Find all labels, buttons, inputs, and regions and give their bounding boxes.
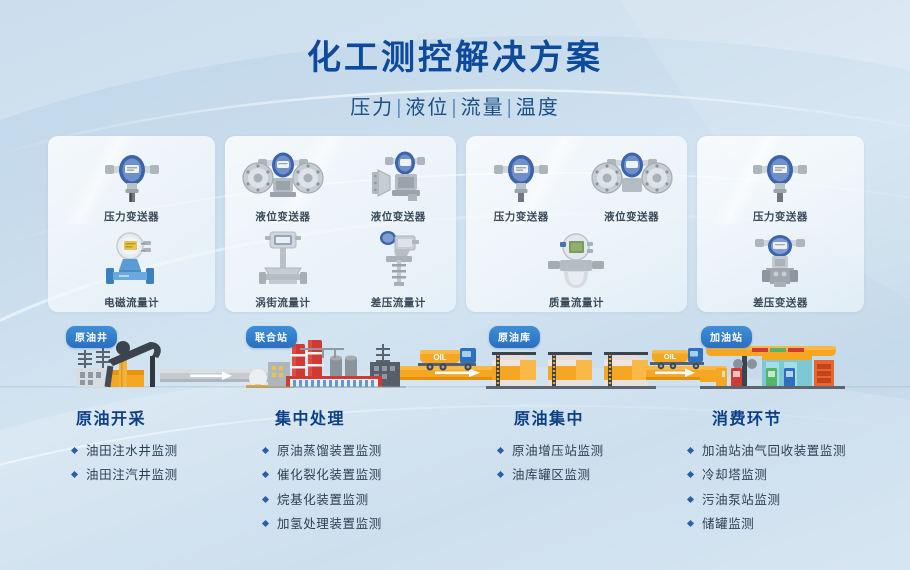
product-item[interactable]: 质量流量计 [466,234,687,310]
stage-item-list: 油田注水井监测 油田注汽井监测 [62,439,252,488]
subtitle-part-level: 液位 [405,97,449,119]
product-card-4[interactable]: 压力变送器 [697,136,864,312]
subtitle-separator: | [394,97,405,119]
mass-flowmeter-icon [466,234,687,290]
product-card-3[interactable]: 压力变送器 [466,136,687,312]
list-item[interactable]: 油田注汽井监测 [70,463,252,487]
list-item[interactable]: 催化裂化装置监测 [261,463,463,487]
subtitle-part-temperature: 温度 [516,97,560,119]
product-label: 液位变送器 [225,209,340,224]
pressure-transmitter-icon [48,148,215,204]
product-item[interactable]: 差压流量计 [341,234,456,310]
stage-title: 集中处理 [253,405,463,429]
stage-title: 消费环节 [678,405,898,429]
diamond-bullet-icon [71,471,78,478]
diamond-bullet-icon [687,447,694,454]
subtitle-part-flow: 流量 [461,97,505,119]
stage-item-list: 原油蒸馏装置监测 催化裂化装置监测 烷基化装置监测 加氢处理装置监测 [253,439,463,537]
level-transmitter-flanged-icon [576,148,686,204]
differential-pressure-flowmeter-icon [341,234,456,290]
product-item[interactable]: 液位变送器 [576,148,686,224]
list-item-label: 烷基化装置监测 [277,493,369,507]
subtitle-separator: | [449,97,460,119]
list-item-label: 原油蒸馏装置监测 [277,444,382,458]
stage-column-1: 原油开采 油田注水井监测 油田注汽井监测 [62,405,252,488]
page-header: 化工测控解决方案 压力|液位|流量|温度 [0,38,910,120]
product-label: 差压流量计 [341,295,456,310]
product-item[interactable]: 压力变送器 [697,148,864,224]
diamond-bullet-icon [71,447,78,454]
list-item[interactable]: 原油增压站监测 [496,439,678,463]
list-item[interactable]: 烷基化装置监测 [261,488,463,512]
list-item[interactable]: 储罐监测 [686,512,898,536]
diamond-bullet-icon [262,447,269,454]
product-label: 液位变送器 [576,209,686,224]
diamond-bullet-icon [687,496,694,503]
product-item[interactable]: 压力变送器 [48,148,215,224]
list-item-label: 油田注水井监测 [86,444,178,458]
list-item[interactable]: 油田注水井监测 [70,439,252,463]
stage-column-2: 集中处理 原油蒸馏装置监测 催化裂化装置监测 烷基化装置监测 加氢处理装置监测 [253,405,463,537]
product-label: 压力变送器 [697,209,864,224]
vortex-flowmeter-icon [225,234,340,290]
stage-item-list: 原油增压站监测 油库罐区监测 [478,439,678,488]
list-item-label: 油库罐区监测 [512,468,591,482]
list-item-label: 储罐监测 [702,517,754,531]
badge-gathering-station[interactable]: 联合站 [246,326,297,348]
list-item[interactable]: 原油蒸馏装置监测 [261,439,463,463]
product-card-1[interactable]: 压力变送器 [48,136,215,312]
list-item[interactable]: 冷却塔监测 [686,463,898,487]
list-item-label: 催化裂化装置监测 [277,468,382,482]
electromagnetic-flowmeter-icon [48,234,215,290]
diamond-bullet-icon [262,520,269,527]
page-title: 化工测控解决方案 [0,38,910,79]
badge-crude-depot[interactable]: 原油库 [489,326,540,348]
list-item-label: 加油站油气回收装置监测 [702,444,846,458]
list-item-label: 油田注汽井监测 [86,468,178,482]
product-label: 涡街流量计 [225,295,340,310]
product-label: 压力变送器 [48,209,215,224]
subtitle-separator: | [505,97,516,119]
product-label: 质量流量计 [466,295,687,310]
diamond-bullet-icon [262,471,269,478]
stage-title: 原油集中 [478,405,678,429]
badge-gas-station[interactable]: 加油站 [701,326,752,348]
product-item[interactable]: 液位变送器 [341,148,456,224]
product-label: 压力变送器 [466,209,576,224]
list-item-label: 污油泵站监测 [702,493,781,507]
list-item-label: 加氢处理装置监测 [277,517,382,531]
list-item-label: 冷却塔监测 [702,468,768,482]
page-subtitle: 压力|液位|流量|温度 [0,91,910,120]
svg-text:OIL: OIL [433,353,446,362]
diamond-bullet-icon [262,496,269,503]
product-item[interactable]: 电磁流量计 [48,234,215,310]
list-item-label: 原油增压站监测 [512,444,604,458]
product-label: 液位变送器 [341,209,456,224]
svg-text:OIL: OIL [664,352,677,361]
product-card-2[interactable]: 液位变送器 [225,136,456,312]
pressure-transmitter-icon [466,148,576,204]
list-item[interactable]: 加氢处理装置监测 [261,512,463,536]
stage-title: 原油开采 [62,405,252,429]
diamond-bullet-icon [687,520,694,527]
stage-item-list: 加油站油气回收装置监测 冷却塔监测 污油泵站监测 储罐监测 [678,439,898,537]
differential-pressure-transmitter-icon [697,234,864,290]
diamond-bullet-icon [687,471,694,478]
product-item[interactable]: 差压变送器 [697,234,864,310]
product-label: 差压变送器 [697,295,864,310]
product-card-row: 压力变送器 [48,136,864,312]
product-item[interactable]: 压力变送器 [466,148,576,224]
pressure-transmitter-icon [697,148,864,204]
crude-depot-scene [486,352,656,389]
list-item[interactable]: 加油站油气回收装置监测 [686,439,898,463]
stage-column-3: 原油集中 原油增压站监测 油库罐区监测 [478,405,678,488]
list-item[interactable]: 污油泵站监测 [686,488,898,512]
stage-column-4: 消费环节 加油站油气回收装置监测 冷却塔监测 污油泵站监测 储罐监测 [678,405,898,537]
product-item[interactable]: 涡街流量计 [225,234,340,310]
level-transmitter-flanged-icon [225,148,340,204]
level-transmitter-side-icon [341,148,456,204]
diamond-bullet-icon [497,471,504,478]
stage-detail-columns: 原油开采 油田注水井监测 油田注汽井监测 集中处理 原油蒸馏装置监测 催化裂化装… [0,405,910,565]
process-flow-illustration: 原油井 联合站 原油库 加油站 [0,322,910,412]
product-item[interactable]: 液位变送器 [225,148,340,224]
list-item[interactable]: 油库罐区监测 [496,463,678,487]
subtitle-part-pressure: 压力 [350,97,394,119]
badge-crude-well[interactable]: 原油井 [66,326,117,348]
diamond-bullet-icon [497,447,504,454]
product-label: 电磁流量计 [48,295,215,310]
